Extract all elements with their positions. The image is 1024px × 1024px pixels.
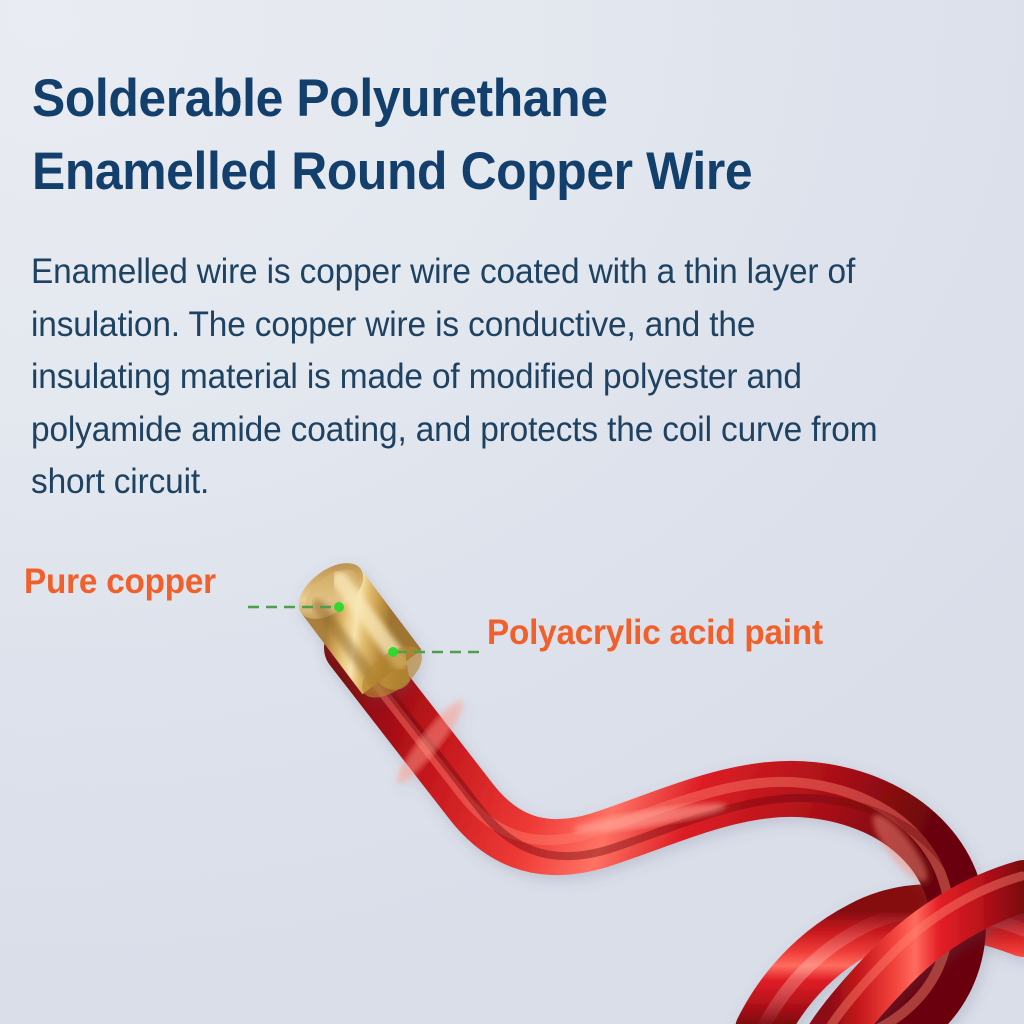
page-title: Solderable Polyurethane Enamelled Round … — [32, 62, 916, 208]
description-paragraph: Enamelled wire is copper wire coated wit… — [31, 246, 891, 509]
callout-label-polyacrylic-acid-paint: Polyacrylic acid paint — [487, 613, 823, 653]
infographic-canvas: Solderable Polyurethane Enamelled Round … — [0, 0, 1024, 1024]
callout-label-pure-copper: Pure copper — [24, 562, 216, 602]
